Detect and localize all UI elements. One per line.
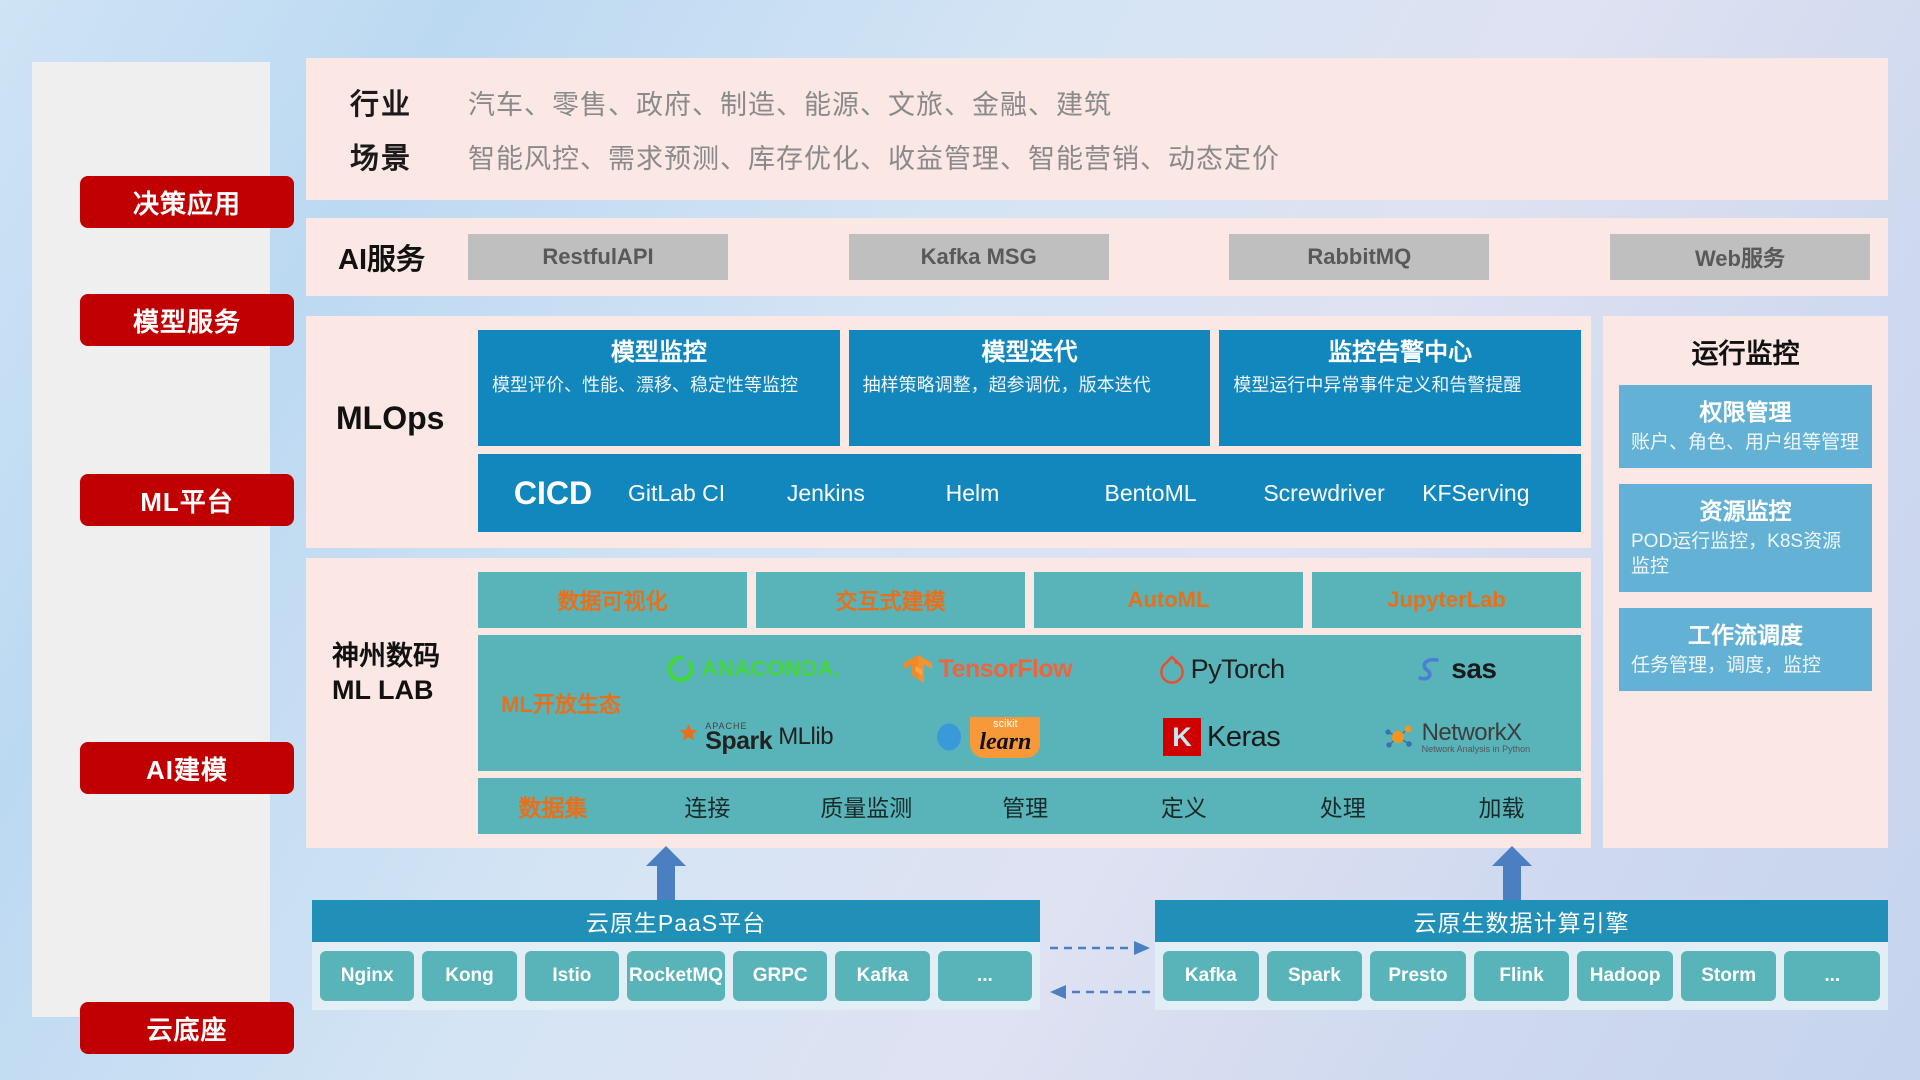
keras-logo-text: Keras <box>1207 721 1280 754</box>
spark-logo-text: Spark <box>705 730 772 753</box>
rail-item-model-service[interactable]: 模型服务 <box>80 294 294 346</box>
rail-label: 决策应用 <box>133 184 241 221</box>
cicd-item-list: GitLab CI Jenkins Helm BentoML Screwdriv… <box>628 481 1581 505</box>
paas-chip[interactable]: RocketMQ <box>627 951 725 1001</box>
mlops-card-list: 模型监控 模型评价、性能、漂移、稳定性等监控 模型迭代 抽样策略调整，超参调优，… <box>478 330 1581 446</box>
monitor-card[interactable]: 权限管理 账户、角色、用户组等管理 <box>1619 385 1872 468</box>
scenario-value: 智能风控、需求预测、库存优化、收益管理、智能营销、动态定价 <box>468 137 1280 176</box>
dataset-item[interactable]: 管理 <box>946 789 1105 823</box>
application-band: 行业 汽车、零售、政府、制造、能源、文旅、金融、建筑 场景 智能风控、需求预测、… <box>306 58 1888 200</box>
ai-service-chip[interactable]: RabbitMQ <box>1229 234 1489 280</box>
monitoring-title: 运行监控 <box>1619 332 1872 371</box>
data-engine-chip-more[interactable]: ... <box>1784 951 1880 1001</box>
spark-wordmark: APACHE Spark <box>705 722 772 753</box>
cicd-item[interactable]: Helm <box>946 481 1105 505</box>
industry-label: 行业 <box>328 81 468 123</box>
learn-logo-text: learn <box>979 730 1031 754</box>
dataset-item-list: 连接 质量监测 管理 定义 处理 加载 <box>628 789 1581 823</box>
ai-service-chip[interactable]: RestfulAPI <box>468 234 728 280</box>
paas-chip-list: Nginx Kong Istio RocketMQ GRPC Kafka ... <box>312 942 1040 1010</box>
rail-item-ml-platform[interactable]: ML平台 <box>80 474 294 526</box>
mlops-card-desc: 模型运行中异常事件定义和告警提醒 <box>1233 373 1567 397</box>
networkx-mark-icon <box>1382 722 1416 752</box>
scenario-label: 场景 <box>328 135 468 177</box>
mlops-card[interactable]: 模型监控 模型评价、性能、漂移、稳定性等监控 <box>478 330 840 446</box>
anaconda-logo-text: ANACONDA. <box>702 656 841 682</box>
data-engine-chip[interactable]: Presto <box>1370 951 1466 1001</box>
monitor-card-title: 工作流调度 <box>1631 616 1860 650</box>
ml-ecosystem-logo-grid: ANACONDA. TensorFlow <box>636 635 1573 771</box>
cicd-label: CICD <box>478 475 628 512</box>
scikit-blue-blob-icon <box>934 722 964 752</box>
industry-value: 汽车、零售、政府、制造、能源、文旅、金融、建筑 <box>468 83 1112 122</box>
pytorch-logo: PyTorch <box>1159 654 1285 685</box>
rail-label: ML平台 <box>140 482 234 519</box>
monitor-card-desc: POD运行监控，K8S资源监控 <box>1631 529 1860 580</box>
rail-label: 模型服务 <box>133 302 241 339</box>
data-engine-chip[interactable]: Flink <box>1474 951 1570 1001</box>
industry-row: 行业 汽车、零售、政府、制造、能源、文旅、金融、建筑 <box>328 75 1888 129</box>
rail-item-ai-modeling[interactable]: AI建模 <box>80 742 294 794</box>
data-engine-title: 云原生数据计算引擎 <box>1155 900 1888 942</box>
dataset-item[interactable]: 定义 <box>1104 789 1263 823</box>
paas-chip[interactable]: GRPC <box>733 951 827 1001</box>
left-rail: 决策应用 模型服务 ML平台 AI建模 云底座 <box>32 62 270 1017</box>
cicd-item[interactable]: BentoML <box>1104 481 1263 505</box>
tool-chip-list: 数据可视化 交互式建模 AutoML JupyterLab <box>478 572 1581 628</box>
modeling-band: 神州数码 ML LAB 数据可视化 交互式建模 AutoML JupyterLa… <box>306 558 1591 848</box>
monitor-card-desc: 账户、角色、用户组等管理 <box>1631 430 1860 456</box>
anaconda-logo: ANACONDA. <box>666 654 841 684</box>
cicd-item[interactable]: Jenkins <box>787 481 946 505</box>
rail-item-cloud-foundation[interactable]: 云底座 <box>80 1002 294 1054</box>
mllib-logo-text: MLlib <box>778 723 833 751</box>
modeling-content: 数据可视化 交互式建模 AutoML JupyterLab ML开放生态 A <box>478 572 1581 834</box>
mlops-card-title: 模型监控 <box>492 338 826 368</box>
ml-ecosystem-label: ML开放生态 <box>486 687 636 719</box>
paas-chip-more[interactable]: ... <box>938 951 1032 1001</box>
ml-lab-label-line1: 神州数码 <box>332 640 478 674</box>
paas-up-arrow-icon <box>644 846 688 900</box>
monitoring-column: 运行监控 权限管理 账户、角色、用户组等管理 资源监控 POD运行监控，K8S资… <box>1603 316 1888 848</box>
scikit-learn-logo: scikit learn <box>934 717 1040 758</box>
networkx-logo-text: NetworkX <box>1422 721 1531 745</box>
rail-label: 云底座 <box>146 1010 227 1047</box>
data-engine-block: 云原生数据计算引擎 Kafka Spark Presto Flink Hadoo… <box>1155 900 1888 1010</box>
tool-chip[interactable]: 交互式建模 <box>756 572 1025 628</box>
monitor-card-title: 资源监控 <box>1631 492 1860 526</box>
data-engine-up-arrow-icon <box>1490 846 1534 900</box>
rail-label: AI建模 <box>146 750 228 787</box>
dataset-item[interactable]: 加载 <box>1422 789 1581 823</box>
cicd-item[interactable]: GitLab CI <box>628 481 787 505</box>
paas-chip[interactable]: Kafka <box>835 951 929 1001</box>
networkx-logo: NetworkX Network Analysis in Python <box>1382 721 1531 754</box>
tool-chip[interactable]: AutoML <box>1034 572 1303 628</box>
data-engine-chip[interactable]: Kafka <box>1163 951 1259 1001</box>
monitor-card[interactable]: 资源监控 POD运行监控，K8S资源监控 <box>1619 484 1872 592</box>
monitor-card-desc: 任务管理，调度，监控 <box>1631 653 1860 679</box>
cicd-bar: CICD GitLab CI Jenkins Helm BentoML Scre… <box>478 454 1581 532</box>
ai-service-chip[interactable]: Web服务 <box>1610 234 1870 280</box>
paas-block: 云原生PaaS平台 Nginx Kong Istio RocketMQ GRPC… <box>312 900 1040 1010</box>
data-engine-chip[interactable]: Storm <box>1681 951 1777 1001</box>
tool-chip[interactable]: 数据可视化 <box>478 572 747 628</box>
pytorch-logo-text: PyTorch <box>1191 654 1285 685</box>
mlops-card-title: 监控告警中心 <box>1233 338 1567 368</box>
cicd-item[interactable]: KFServing <box>1422 481 1581 505</box>
sas-logo: sas <box>1415 653 1496 685</box>
mlops-content: 模型监控 模型评价、性能、漂移、稳定性等监控 模型迭代 抽样策略调整，超参调优，… <box>478 330 1581 532</box>
mlops-card-title: 模型迭代 <box>863 338 1197 368</box>
ai-service-chip[interactable]: Kafka MSG <box>849 234 1109 280</box>
data-engine-chip[interactable]: Spark <box>1267 951 1363 1001</box>
dataset-item[interactable]: 连接 <box>628 789 787 823</box>
mlops-band: MLOps 模型监控 模型评价、性能、漂移、稳定性等监控 模型迭代 抽样策略调整… <box>306 316 1591 548</box>
dataset-label: 数据集 <box>478 789 628 823</box>
networkx-wordmark: NetworkX Network Analysis in Python <box>1422 721 1531 754</box>
keras-mark-icon: K <box>1163 718 1201 756</box>
rail-item-decision-application[interactable]: 决策应用 <box>80 176 294 228</box>
dataset-row: 数据集 连接 质量监测 管理 定义 处理 加载 <box>478 778 1581 834</box>
cicd-item[interactable]: Screwdriver <box>1263 481 1422 505</box>
mlops-card[interactable]: 模型迭代 抽样策略调整，超参调优，版本迭代 <box>849 330 1211 446</box>
ml-lab-label: 神州数码 ML LAB <box>328 572 478 708</box>
data-engine-chip-list: Kafka Spark Presto Flink Hadoop Storm ..… <box>1155 942 1888 1010</box>
ai-service-band: AI服务 RestfulAPI Kafka MSG RabbitMQ Web服务 <box>306 218 1888 296</box>
mlops-card-desc: 抽样策略调整，超参调优，版本迭代 <box>863 373 1197 397</box>
paas-chip[interactable]: Istio <box>525 951 619 1001</box>
paas-title: 云原生PaaS平台 <box>312 900 1040 942</box>
dataset-item[interactable]: 质量监测 <box>787 789 946 823</box>
sas-logo-text: sas <box>1451 653 1496 685</box>
tensorflow-logo-text: TensorFlow <box>939 655 1072 684</box>
paas-chip[interactable]: Nginx <box>320 951 414 1001</box>
ml-ecosystem-row: ML开放生态 ANACONDA. <box>478 635 1581 771</box>
ai-service-label: AI服务 <box>328 236 468 278</box>
networkx-logo-sub: Network Analysis in Python <box>1422 745 1531 754</box>
pytorch-mark-icon <box>1159 654 1185 684</box>
mlops-card[interactable]: 监控告警中心 模型运行中异常事件定义和告警提醒 <box>1219 330 1581 446</box>
spark-mark-icon <box>673 722 699 752</box>
diagram-canvas: 决策应用 模型服务 ML平台 AI建模 云底座 行业 汽车、零售、政府、制造、能… <box>0 0 1920 1080</box>
spark-mllib-logo: APACHE Spark MLlib <box>673 722 833 753</box>
scenario-row: 场景 智能风控、需求预测、库存优化、收益管理、智能营销、动态定价 <box>328 129 1888 183</box>
ml-lab-label-line2: ML LAB <box>332 674 478 708</box>
scikit-learn-wordmark: scikit learn <box>970 717 1040 758</box>
cloud-link-arrows <box>1048 930 1152 1008</box>
paas-chip[interactable]: Kong <box>422 951 516 1001</box>
dataset-item[interactable]: 处理 <box>1263 789 1422 823</box>
tensorflow-logo: TensorFlow <box>903 653 1072 685</box>
keras-logo: K Keras <box>1163 718 1280 756</box>
sas-mark-icon <box>1415 654 1445 684</box>
monitor-card-title: 权限管理 <box>1631 393 1860 427</box>
anaconda-mark-icon <box>666 654 696 684</box>
tool-chip[interactable]: JupyterLab <box>1312 572 1581 628</box>
ai-service-chip-list: RestfulAPI Kafka MSG RabbitMQ Web服务 <box>468 234 1888 280</box>
tensorflow-mark-icon <box>903 653 933 685</box>
scikit-logo-sub: scikit <box>993 719 1017 730</box>
data-engine-chip[interactable]: Hadoop <box>1577 951 1673 1001</box>
mlops-label: MLOps <box>328 330 478 437</box>
mlops-card-desc: 模型评价、性能、漂移、稳定性等监控 <box>492 373 826 397</box>
monitor-card[interactable]: 工作流调度 任务管理，调度，监控 <box>1619 608 1872 691</box>
